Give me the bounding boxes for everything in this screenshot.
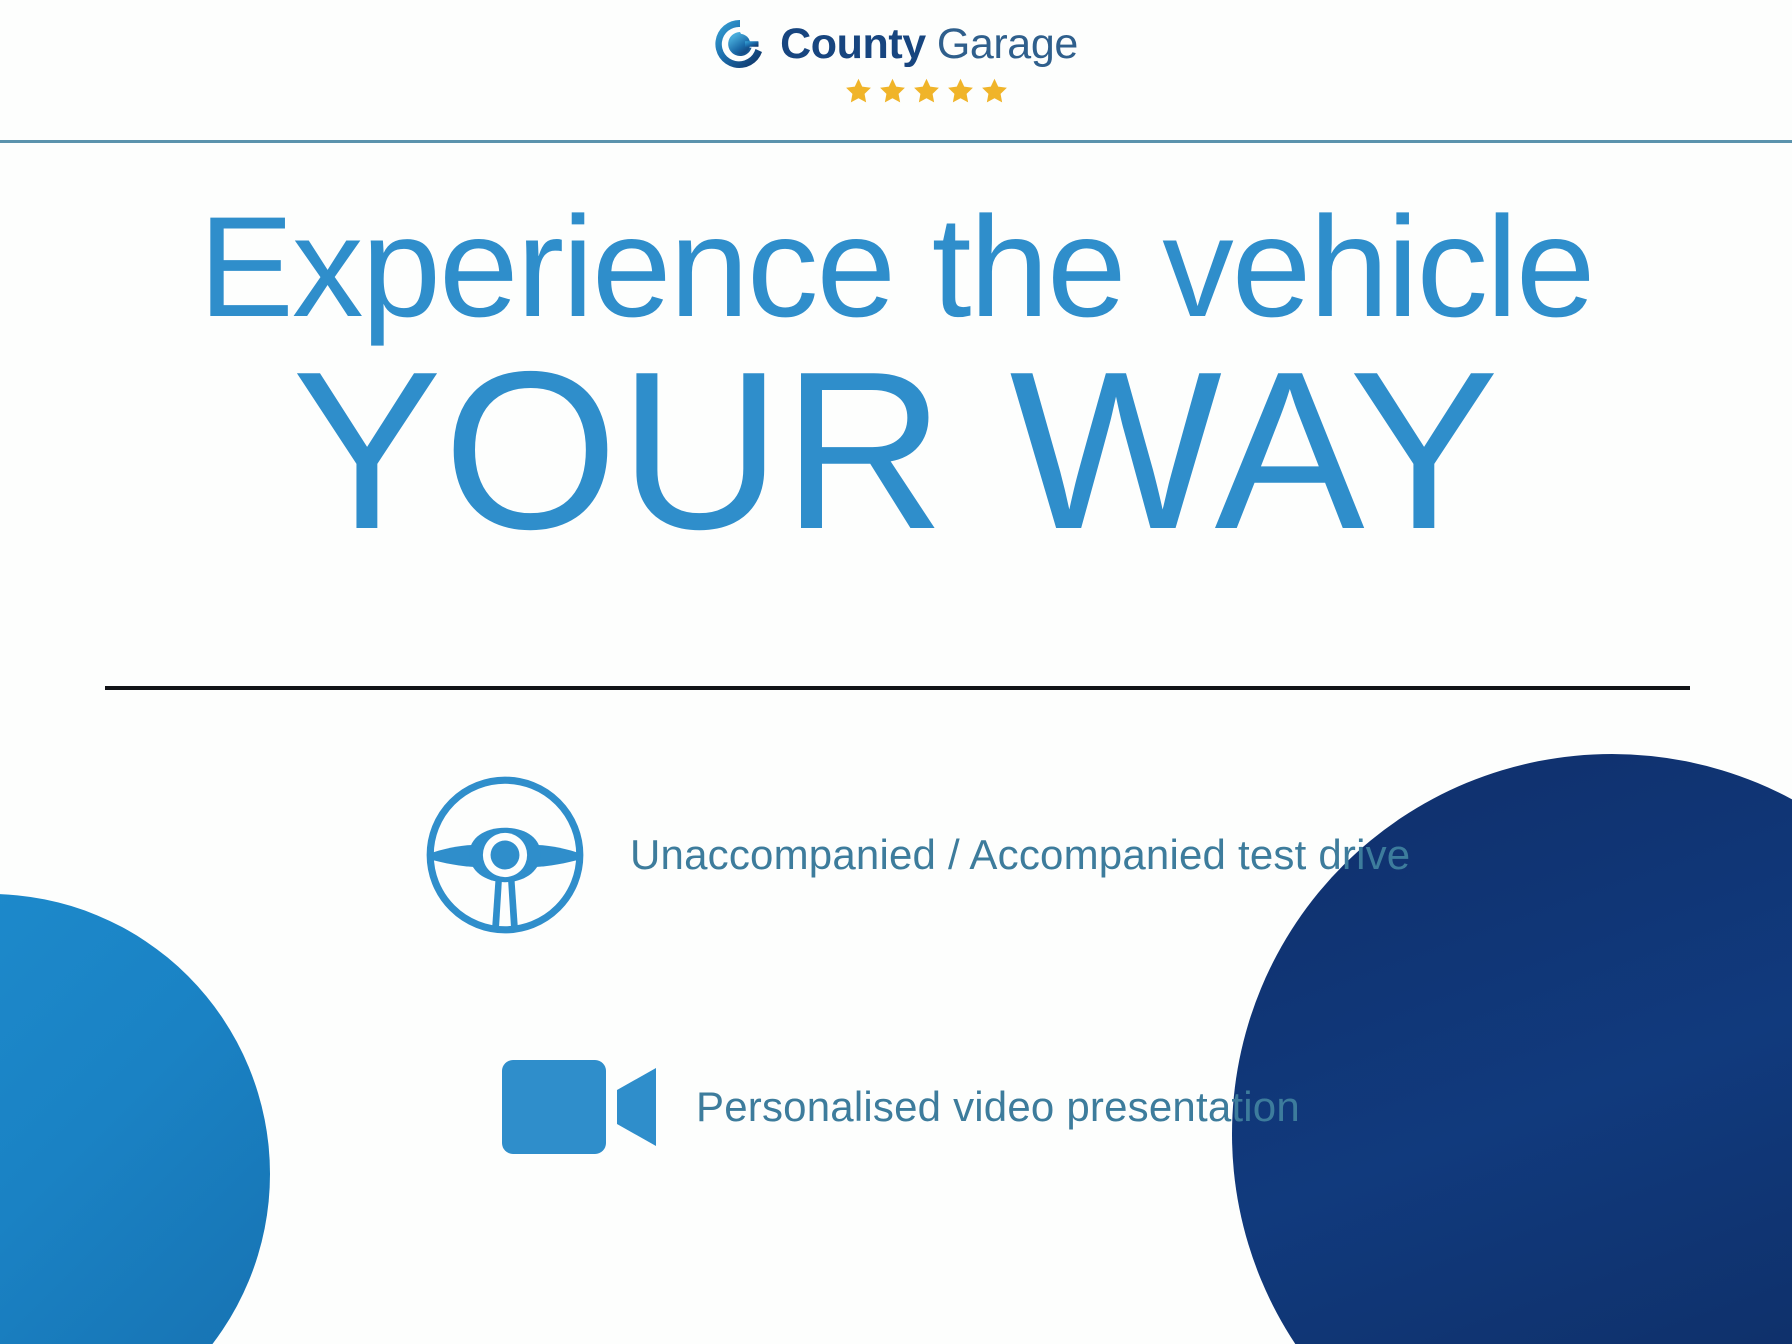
video-camera-icon xyxy=(500,1054,660,1159)
headline-line-1: Experience the vehicle xyxy=(0,196,1792,339)
feature-label: Personalised video presentation xyxy=(696,1083,1300,1131)
promo-banner: CountyGarage Experience the vehicle Y xyxy=(0,0,1792,1344)
star-icon xyxy=(879,77,906,104)
logo-wordmark: CountyGarage xyxy=(780,23,1078,66)
feature-item-video-presentation: Personalised video presentation xyxy=(0,1054,1792,1159)
headline-block: Experience the vehicle YOUR WAY xyxy=(0,196,1792,567)
star-icon xyxy=(947,77,974,104)
headline-divider xyxy=(105,686,1690,690)
brand-logo: CountyGarage xyxy=(0,18,1792,104)
star-icon xyxy=(981,77,1008,104)
feature-icon-wrapper xyxy=(420,770,590,940)
star-icon xyxy=(845,77,872,104)
headline-line-2: YOUR WAY xyxy=(0,333,1792,567)
star-rating xyxy=(845,77,1008,104)
feature-list: Unaccompanied / Accompanied test drive P… xyxy=(0,770,1792,1159)
logo-word-garage: Garage xyxy=(937,20,1078,68)
county-garage-c-logo-icon xyxy=(714,18,766,70)
star-icon xyxy=(913,77,940,104)
feature-icon-wrapper xyxy=(500,1054,660,1159)
header-divider xyxy=(0,140,1792,143)
steering-wheel-icon xyxy=(420,770,590,940)
logo-row: CountyGarage xyxy=(714,18,1078,70)
logo-word-county: County xyxy=(780,20,926,68)
feature-label: Unaccompanied / Accompanied test drive xyxy=(630,831,1410,879)
feature-item-test-drive: Unaccompanied / Accompanied test drive xyxy=(0,770,1792,940)
